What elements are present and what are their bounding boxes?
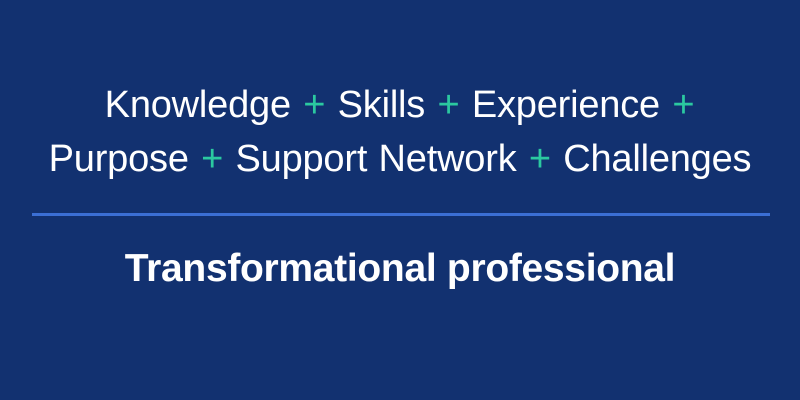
plus-icon: + [436,84,460,126]
equation-term: Knowledge [105,84,291,126]
section-divider [32,213,770,216]
plus-icon: + [528,138,552,180]
plus-icon: + [671,84,695,126]
equation-term: Challenges [563,138,751,180]
equation-term: Support Network [235,138,516,180]
equation-term: Skills [338,84,425,126]
slide-canvas: Knowledge + Skills + Experience + Purpos… [0,0,800,400]
headline-result: Transformational professional [32,244,768,294]
equation-term: Purpose [49,138,189,180]
equation-term: Experience [472,84,660,126]
plus-icon: + [200,138,224,180]
plus-icon: + [302,84,326,126]
equation-formula: Knowledge + Skills + Experience + Purpos… [32,78,768,186]
